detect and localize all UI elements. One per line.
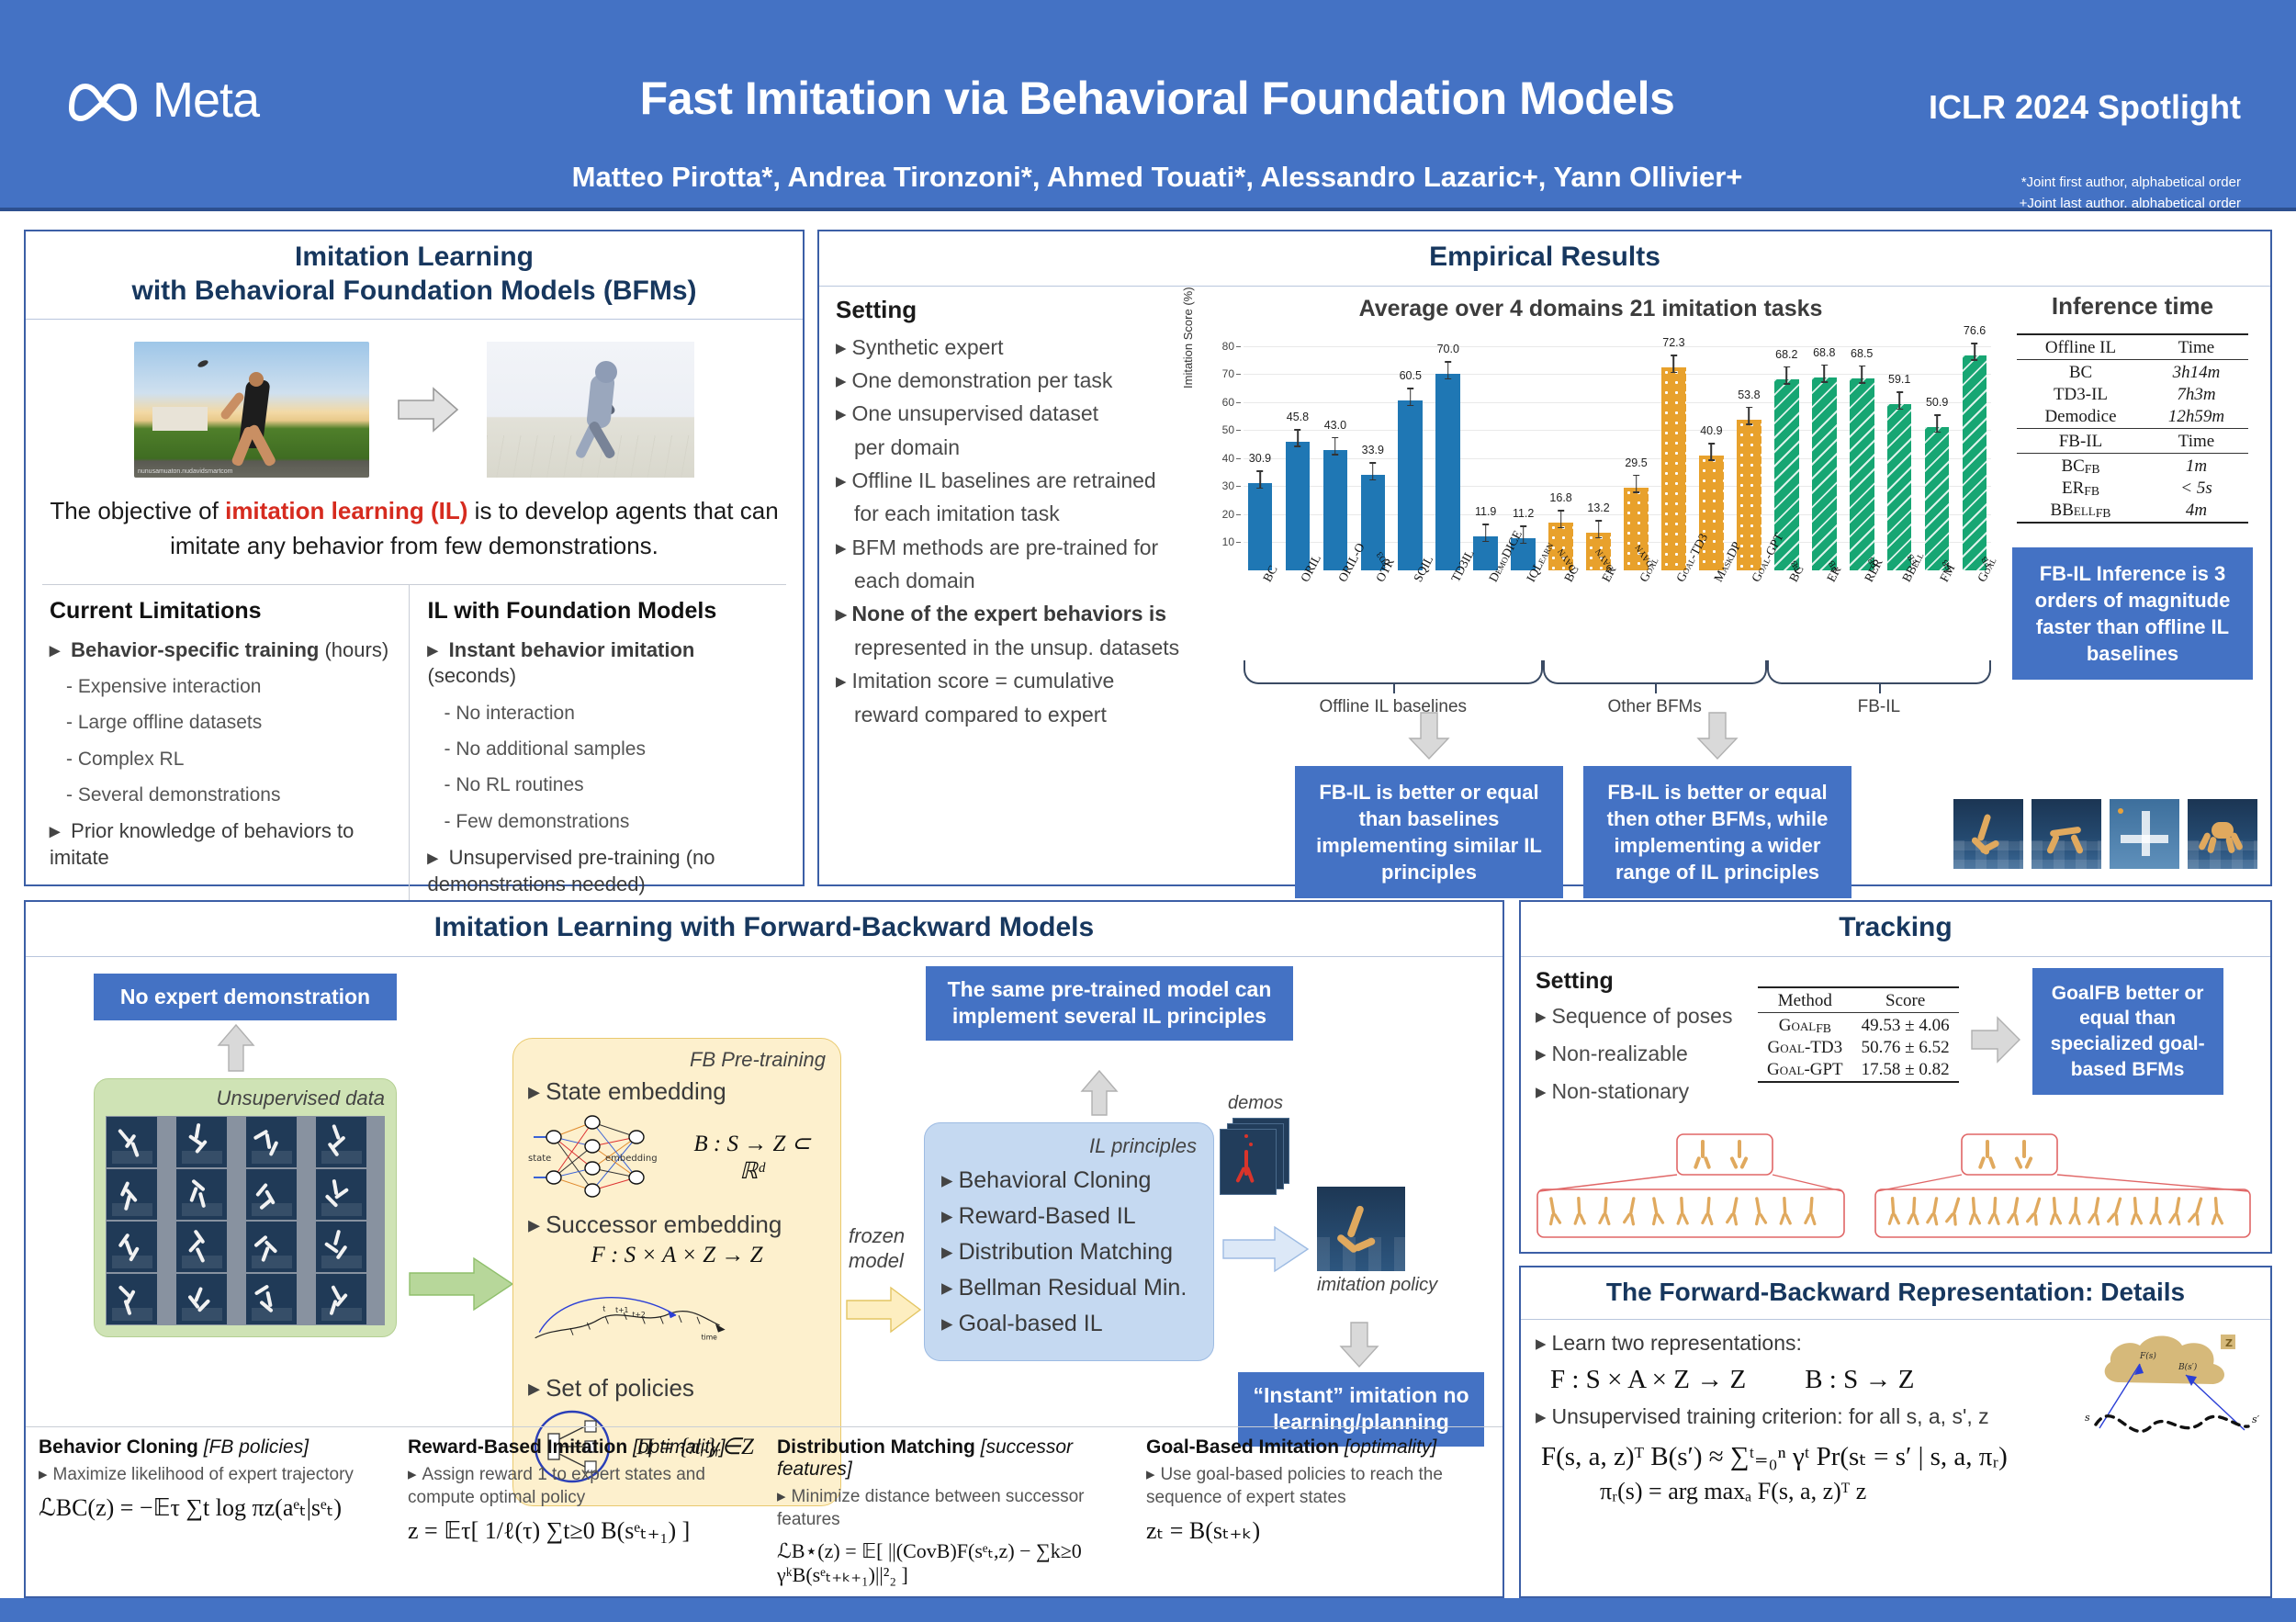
foundation-item-1: - No interaction	[445, 701, 780, 726]
inference-time-block: Inference time Offline IL Time BC 3h14m …	[2004, 292, 2261, 680]
footnote-first-author: *Joint first author, alphabetical order	[2020, 173, 2241, 194]
y-tick-20: 20	[1222, 508, 1234, 521]
unsupervised-frame-0	[107, 1117, 157, 1167]
chart-bar-value: 30.9	[1249, 452, 1271, 465]
column-current-limitations: Current Limitations Behavior-specific tr…	[42, 585, 409, 909]
panel-title-imitation-learning: Imitation Learning with Behavioral Found…	[26, 231, 803, 320]
chart-error-bar	[1560, 510, 1562, 528]
cell-time: 7h3m	[2144, 384, 2248, 406]
callout-block-other-bfms: FB-IL is better or equal then other BFMs…	[1583, 711, 1851, 898]
setting-item-9: represented in the unsup. datasets	[854, 634, 1194, 661]
demos-label: demos	[1220, 1093, 1291, 1114]
chart-bar-cell: 16.8	[1545, 341, 1578, 570]
card-tag: [optimality]	[633, 1436, 725, 1458]
svg-text:Z: Z	[2225, 1337, 2233, 1349]
chart-bar-value: 11.9	[1475, 505, 1496, 518]
callout-other-bfms: FB-IL is better or equal then other BFMs…	[1583, 766, 1851, 898]
chart-bar-value: 68.5	[1851, 347, 1873, 360]
chart-bars: 30.945.843.033.960.570.011.911.216.813.2…	[1244, 341, 1991, 570]
meta-wordmark: Meta	[152, 72, 259, 129]
table-row: BBellFB 4m	[2017, 500, 2248, 523]
unsupervised-frame-11	[316, 1222, 366, 1272]
yellow-arrow-icon	[845, 1284, 922, 1340]
pretrain-bullet-successor-embedding: Successor embedding	[528, 1211, 826, 1239]
tracking-setting-list: Setting Sequence of poses Non-realizable…	[1536, 968, 1747, 1117]
environment-thumbnails	[1953, 799, 2257, 869]
cell-method: BC	[2017, 362, 2144, 384]
unsupervised-frame-15	[316, 1274, 366, 1324]
table-header-fbil: FB-IL Time	[2017, 431, 2248, 454]
cell-method-sub: FB	[2084, 484, 2099, 498]
y-tick-60: 60	[1222, 396, 1234, 409]
il-principles-label: IL principles	[941, 1134, 1197, 1158]
chart-error-bar	[1598, 520, 1600, 538]
panel-fb-models: Imitation Learning with Forward-Backward…	[24, 900, 1504, 1598]
chart-error-bar	[1749, 407, 1750, 425]
table-row: BCFB 1m	[2017, 456, 2248, 478]
chart-bar-value: 40.9	[1700, 424, 1722, 437]
chart-x-label-cell: FMFB	[1920, 572, 1953, 657]
pretrain-bullet-state-embedding: State embedding	[528, 1077, 826, 1106]
cell-score: 17.58 ± 0.82	[1852, 1059, 1959, 1082]
setting-item-10: Imitation score = cumulative	[836, 667, 1194, 694]
il-principle-bellman-residual-min: Bellman Residual Min.	[941, 1274, 1197, 1301]
chart-bar-cell: 68.5	[1845, 341, 1878, 570]
demos-block: demos	[1220, 1093, 1291, 1193]
il-principle-goal-based-il: Goal-based IL	[941, 1310, 1197, 1337]
card-title-text: Reward-Based Imitation	[408, 1436, 627, 1458]
table-row: Goal-TD3 50.76 ± 6.52	[1758, 1037, 1959, 1059]
chart-bar-cell: 59.1	[1883, 341, 1916, 570]
card-title-goal-based: Goal-Based Imitation [optimality]	[1146, 1436, 1490, 1459]
il-title-line1: Imitation Learning	[31, 241, 797, 275]
unsupervised-frame-13	[176, 1274, 227, 1324]
setting-item-3: per domain	[854, 434, 1194, 461]
tracking-top-row: Setting Sequence of poses Non-realizable…	[1536, 968, 2256, 1117]
cell-method-sub: FB	[1816, 1021, 1831, 1035]
tracking-setting-item-1: Non-realizable	[1536, 1042, 1747, 1066]
chart-bar-BC: 30.9	[1248, 483, 1273, 569]
unsupervised-frame-9	[176, 1222, 227, 1272]
chart-x-label-cell: OTRTD3	[1356, 572, 1390, 657]
tag-same-pretrained-model: The same pre-trained model can implement…	[926, 966, 1293, 1042]
foundation-item-0: Instant behavior imitation (seconds)	[428, 637, 780, 690]
chart-bar-cell: 53.8	[1732, 341, 1765, 570]
svg-text:state: state	[528, 1154, 551, 1164]
il-principle-distribution-matching: Distribution Matching	[941, 1238, 1197, 1266]
up-arrow-icon-principles	[1080, 1069, 1119, 1121]
cell-method-text: BC	[2061, 456, 2084, 476]
panel-imitation-learning: Imitation Learning with Behavioral Found…	[24, 230, 805, 886]
successor-curve-diagram: t t+1 t+2 time	[528, 1268, 826, 1369]
card-desc-reward-based: Assign reward 1 to expert states and com…	[408, 1464, 751, 1509]
chart-title: Average over 4 domains 21 imitation task…	[1187, 296, 1995, 322]
chart-x-label-cell: ORIL	[1281, 572, 1314, 657]
table-header-tracking: Method Score	[1758, 990, 1959, 1013]
card-title-behavior-cloning: Behavior Cloning [FB policies]	[39, 1436, 382, 1459]
chart-bar-value: 68.2	[1775, 348, 1797, 361]
chart-bar-cell: 60.5	[1394, 341, 1427, 570]
cell-method: BCFB	[2017, 456, 2144, 478]
card-equation-goal-based: zₜ = B(sₜ₊ₖ)	[1146, 1517, 1490, 1545]
chart-bar-cell: 68.8	[1807, 341, 1840, 570]
unsupervised-frame-1	[176, 1117, 227, 1167]
foundation-item-2: - No additional samples	[445, 737, 780, 761]
chart-x-axis-labels: BCORILORIL-OOTRTD3SQILTD3ILDemoDICEIQLea…	[1244, 572, 1991, 657]
unsupervised-frame-3	[316, 1117, 366, 1167]
unsupervised-data-box: Unsupervised data	[94, 1078, 397, 1337]
fb-body: No expert demonstration Unsupervised dat…	[26, 957, 1503, 1591]
limitation-item-3: - Complex RL	[66, 747, 401, 772]
imitation-policy-thumbnail	[1317, 1187, 1405, 1271]
down-arrow-icon-left	[1408, 711, 1450, 760]
svg-text:t+2: t+2	[632, 1310, 645, 1318]
fb-method-cards: Behavior Cloning [FB policies] Maximize …	[26, 1426, 1503, 1590]
cell-method: ERFB	[2017, 478, 2144, 500]
chart-x-label-cell: GoalDAYN	[1620, 572, 1653, 657]
chart-error-bar	[1297, 429, 1299, 447]
th-time-2: Time	[2144, 431, 2248, 454]
chart-y-axis-ticks: 1020304050607080	[1207, 341, 1242, 570]
chart-x-label-cell: BBellFB	[1883, 572, 1916, 657]
il-principle-reward-based-il: Reward-Based IL	[941, 1202, 1197, 1230]
page-title: Fast Imitation via Behavioral Foundation…	[514, 72, 1800, 125]
heading-il-foundation-models: IL with Foundation Models	[428, 598, 780, 625]
y-tick-80: 80	[1222, 340, 1234, 353]
y-tick-40: 40	[1222, 452, 1234, 465]
card-equation-reward-based: z = 𝔼τ[ 1/ℓ(τ) ∑t≥0 B(sᵉₜ₊₁) ]	[408, 1517, 751, 1545]
chart-x-label-cell: TD3IL	[1432, 572, 1465, 657]
cell-method: BBellFB	[2017, 500, 2144, 523]
callout-inference-speed: FB-IL Inference is 3 orders of magnitude…	[2012, 547, 2253, 680]
chart-y-axis-label: Imitation Score (%)	[1181, 287, 1195, 389]
heading-inference-time: Inference time	[2004, 292, 2261, 321]
chart-x-label-cell: ERFB	[1807, 572, 1840, 657]
panel-fb-representation: The Forward-Backward Representation: Det…	[1519, 1266, 2272, 1598]
panel-tracking: Tracking Setting Sequence of poses Non-r…	[1519, 900, 2272, 1254]
card-desc-goal-based: Use goal-based policies to reach the seq…	[1146, 1464, 1490, 1509]
chart-error-bar	[1485, 524, 1487, 542]
rep-equation-policy: πᵣ(s) = arg maxₐ F(s, a, z)ᵀ z	[1600, 1478, 2256, 1505]
chart-x-label-cell: RERFB	[1845, 572, 1878, 657]
il-body: nunusamuaton.nudavidsmartcom The objecti…	[26, 320, 803, 908]
imitation-policy-label: imitation policy	[1317, 1275, 1437, 1296]
meta-logo: Meta	[66, 72, 259, 129]
svg-text:t: t	[602, 1304, 605, 1312]
y-tick-10: 10	[1222, 535, 1234, 548]
unsupervised-frame-8	[107, 1222, 157, 1272]
setting-item-0: Synthetic expert	[836, 333, 1194, 361]
chart-error-bar	[1711, 443, 1713, 461]
chart-bar-cell: 50.9	[1920, 341, 1953, 570]
card-desc-behavior-cloning: Maximize likelihood of expert trajectory	[39, 1464, 382, 1487]
right-arrow-icon-tracking	[1970, 1016, 2021, 1068]
heading-tracking-setting: Setting	[1536, 968, 1747, 995]
venue-badge: ICLR 2024 Spotlight	[1929, 88, 2241, 127]
chart-bar-value: 76.6	[1964, 324, 1986, 337]
cell-method: Goal-GPT	[1758, 1059, 1852, 1082]
chart-error-bar	[1936, 414, 1938, 433]
il-principles-box: IL principles Behavioral Cloning Reward-…	[924, 1122, 1214, 1361]
chart-x-label-cell: SQIL	[1394, 572, 1427, 657]
cell-method: TD3-IL	[2017, 384, 2144, 406]
svg-text:embedding: embedding	[605, 1154, 658, 1164]
card-title-text: Behavior Cloning	[39, 1436, 198, 1458]
chart-bar-value: 11.2	[1513, 507, 1534, 520]
chart-bar-value: 29.5	[1625, 456, 1647, 469]
unsupervised-data-label: Unsupervised data	[106, 1087, 385, 1110]
chart-bar-cell: 29.5	[1620, 341, 1653, 570]
chart-error-bar	[1673, 355, 1675, 373]
card-distribution-matching: Distribution Matching [successor feature…	[764, 1427, 1133, 1590]
chart-error-bar	[1786, 366, 1788, 385]
card-tag: [FB policies]	[204, 1436, 309, 1458]
chart-x-label-cell: ERDAYN	[1582, 572, 1615, 657]
setting-item-7: each domain	[854, 567, 1194, 594]
tracking-pose-sequences	[1530, 1132, 2265, 1243]
foundation-item-0-light: (seconds)	[428, 664, 517, 687]
chart-bar-value: 70.0	[1437, 343, 1459, 355]
chart-bar-FM_FB: 50.9	[1925, 427, 1950, 569]
il-two-column-comparison: Current Limitations Behavior-specific tr…	[42, 584, 786, 909]
fb-representation-body: Learn two representations: F : S × A × Z…	[1521, 1320, 2270, 1592]
cell-score: 49.53 ± 4.06	[1852, 1015, 1959, 1037]
empirical-setting-list: Setting Synthetic expertOne demonstratio…	[836, 296, 1194, 734]
unsupervised-frame-4	[107, 1169, 157, 1220]
chart-x-label-cell: BCFB	[1770, 572, 1803, 657]
pretrain-bullet-set-of-policies: Set of policies	[528, 1374, 826, 1402]
il-title-line2: with Behavioral Foundation Models (BFMs)	[31, 275, 797, 309]
card-title-distribution-matching: Distribution Matching [successor feature…	[777, 1436, 1120, 1481]
chart-bar-value: 13.2	[1587, 501, 1609, 514]
successor-embedding-formula: F : S × A × Z → Z	[528, 1243, 826, 1268]
unsupervised-frame-14	[246, 1274, 297, 1324]
foundation-item-3: - No RL routines	[445, 772, 780, 797]
bracket-0	[1244, 660, 1543, 684]
frozen-model-label: frozenmodel	[849, 1223, 905, 1274]
chart-error-bar	[1823, 365, 1825, 383]
unsupervised-frame-6	[246, 1169, 297, 1220]
foundation-item-5-light: Unsupervised pre-training (no demonstrat…	[428, 846, 715, 895]
unsupervised-frame-5	[176, 1169, 227, 1220]
chart-bar-RER_FB: 68.5	[1850, 378, 1874, 570]
chart-bar-ER_FB: 68.8	[1812, 377, 1837, 570]
il-illustration-row: nunusamuaton.nudavidsmartcom	[42, 342, 786, 478]
il-caption-highlight: imitation learning (IL)	[225, 497, 467, 524]
chart-x-label-cell: BC	[1244, 572, 1277, 657]
chart-bar-value: 16.8	[1549, 491, 1571, 504]
card-behavior-cloning: Behavior Cloning [FB policies] Maximize …	[26, 1427, 395, 1590]
th-time-1: Time	[2144, 337, 2248, 360]
simulated-humanoid-photo	[487, 342, 694, 478]
latent-space-cloud-diagram: Z F(s) B(s′) s s′	[2083, 1325, 2257, 1436]
tracking-setting-item-0: Sequence of poses	[1536, 1004, 1747, 1029]
table-row: BC 3h14m	[2017, 362, 2248, 384]
chart-x-label-cell: IQLearn	[1507, 572, 1540, 657]
cell-method: Goal-TD3	[1758, 1037, 1852, 1059]
setting-item-1: One demonstration per task	[836, 366, 1194, 394]
footer-bar	[0, 1598, 2296, 1622]
chart-bar-cell: 33.9	[1356, 341, 1390, 570]
chart-plot-area: Imitation Score (%) 1020304050607080 30.…	[1187, 341, 1995, 581]
chart-bar-cell: 11.9	[1469, 341, 1503, 570]
chart-bar-cell: 43.0	[1319, 341, 1352, 570]
cell-method: Demodice	[2017, 406, 2144, 429]
chart-x-label-cell: Goal-TD3	[1657, 572, 1690, 657]
card-goal-based-imitation: Goal-Based Imitation [optimality] Use go…	[1133, 1427, 1503, 1590]
th-score: Score	[1852, 990, 1959, 1013]
runner-photo: nunusamuaton.nudavidsmartcom	[134, 342, 369, 478]
cell-method-text: Goal	[1779, 1016, 1816, 1035]
chart-error-bar	[1636, 475, 1638, 493]
limitation-item-5: Prior knowledge of behaviors to imitate	[50, 818, 401, 871]
limitation-item-0-light: (hours)	[324, 638, 388, 661]
setting-item-4: Offline IL baselines are retrained	[836, 467, 1194, 494]
header-divider	[0, 208, 2296, 211]
chart-x-label-cell: ORIL-O	[1319, 572, 1352, 657]
bracket-2	[1767, 660, 1991, 684]
table-header-offline: Offline IL Time	[2017, 337, 2248, 360]
cell-time: 3h14m	[2144, 362, 2248, 384]
il-caption-pre: The objective of	[50, 497, 225, 524]
y-tick-30: 30	[1222, 479, 1234, 492]
unsupervised-frame-2	[246, 1117, 297, 1167]
th-fb-il: FB-IL	[2017, 431, 2144, 454]
limitation-item-0: Behavior-specific training (hours)	[50, 637, 401, 664]
card-tag: [optimality]	[1345, 1436, 1436, 1458]
cell-time: 12h59m	[2144, 406, 2248, 429]
up-arrow-icon-unsup	[217, 1023, 255, 1077]
chart-bar-BBell_FB: 59.1	[1887, 404, 1912, 569]
limitation-item-0-bold: Behavior-specific training	[71, 638, 319, 661]
chart-error-bar	[1974, 343, 1975, 361]
pose-sequence-diagram	[1530, 1132, 2256, 1241]
state-embedding-row: state embedding B : S → Z ⊂ ℝᵈ	[528, 1109, 826, 1205]
chart-bar-value: 50.9	[1926, 396, 1948, 409]
demos-thumbnail-stack	[1220, 1114, 1291, 1193]
limitation-item-4: - Several demonstrations	[66, 783, 401, 807]
unsupervised-frame-10	[246, 1222, 297, 1272]
setting-item-11: reward compared to expert	[854, 701, 1194, 728]
table-row: Goal-GPT 17.58 ± 0.82	[1758, 1059, 1959, 1082]
tracking-setting-item-2: Non-stationary	[1536, 1079, 1747, 1104]
unsupervised-frame-12	[107, 1274, 157, 1324]
panel-title-fb-models: Imitation Learning with Forward-Backward…	[26, 902, 1503, 957]
chart-error-bar	[1334, 437, 1336, 456]
y-tick-70: 70	[1222, 367, 1234, 380]
panel-empirical-results: Empirical Results Setting Synthetic expe…	[817, 230, 2272, 886]
card-equation-distribution-matching: ℒB⋆(z) = 𝔼[ ||(CovB)F(sᵉₜ,z) − ∑k≥0 γᵏB(…	[777, 1539, 1120, 1587]
bracket-1	[1543, 660, 1767, 684]
fb-pretraining-label: FB Pre-training	[528, 1048, 826, 1072]
down-arrow-icon-right	[1696, 711, 1739, 760]
limitation-item-2: - Large offline datasets	[66, 710, 401, 735]
limitation-item-1: - Expensive interaction	[66, 674, 401, 699]
cell-score: 50.76 ± 6.52	[1852, 1037, 1959, 1059]
th-method: Method	[1758, 990, 1852, 1013]
setting-item-2: One unsupervised dataset	[836, 400, 1194, 427]
callout-offline-baselines: FB-IL is better or equal than baselines …	[1295, 766, 1563, 898]
svg-text:t+1: t+1	[615, 1306, 628, 1314]
chart-error-bar	[1861, 366, 1863, 384]
card-equation-behavior-cloning: ℒBC(z) = −𝔼τ ∑t log πz(aᵉₜ|sᵉₜ)	[39, 1494, 382, 1522]
imitation-policy-block: imitation policy	[1317, 1187, 1437, 1296]
heading-current-limitations: Current Limitations	[50, 598, 401, 625]
cell-method-sub: FB	[2085, 462, 2100, 476]
panel-title-empirical-results: Empirical Results	[819, 231, 2270, 287]
card-reward-based-imitation: Reward-Based Imitation [optimality] Assi…	[395, 1427, 764, 1590]
tag-no-expert-demonstration: No expert demonstration	[94, 974, 397, 1021]
il-caption: The objective of imitation learning (IL)…	[42, 494, 786, 563]
chart-bar-cell: 30.9	[1244, 341, 1277, 570]
blue-arrow-icon	[1221, 1223, 1310, 1279]
th-offline-il: Offline IL	[2017, 337, 2144, 360]
chart-x-label-cell: DemoDICE	[1469, 572, 1503, 657]
cell-time: 1m	[2144, 456, 2248, 478]
chart-error-bar	[1447, 361, 1449, 379]
chart-error-bar	[1898, 391, 1900, 410]
table-row: Demodice 12h59m	[2017, 406, 2248, 429]
chart-bar-cell: 76.6	[1958, 341, 1991, 570]
chart-group-brackets: Offline IL baselinesOther BFMsFB-IL	[1244, 660, 1991, 714]
column-il-foundation-models: IL with Foundation Models Instant behavi…	[409, 585, 787, 909]
foundation-item-4: - Few demonstrations	[445, 809, 780, 834]
card-title-text: Distribution Matching	[777, 1436, 975, 1458]
heading-setting: Setting	[836, 296, 1194, 324]
svg-text:B(s′): B(s′)	[2178, 1362, 2198, 1372]
card-title-reward-based: Reward-Based Imitation [optimality]	[408, 1436, 751, 1459]
neural-network-icon: state embedding	[528, 1109, 675, 1205]
chart-bar-cell: 45.8	[1281, 341, 1314, 570]
svg-text:s′: s′	[2252, 1414, 2260, 1425]
transform-arrow-icon	[397, 386, 459, 434]
chart-bar-cell: 13.2	[1582, 341, 1615, 570]
setting-item-5: for each imitation task	[854, 500, 1194, 527]
chart-bar-cell: 72.3	[1657, 341, 1690, 570]
cell-time: < 5s	[2144, 478, 2248, 500]
chart-x-label-cell: BCDAYN	[1545, 572, 1578, 657]
cell-method: GoalFB	[1758, 1015, 1852, 1037]
panel-title-fb-representation: The Forward-Backward Representation: Det…	[1521, 1267, 2270, 1320]
cell-time: 4m	[2144, 500, 2248, 523]
rep-equation-B: B : S → Z	[1805, 1365, 1914, 1395]
foundation-item-0-bold: Instant behavior imitation	[449, 638, 695, 661]
chart-bar-Goal_FB: 76.6	[1963, 355, 1987, 570]
chart-error-bar	[1410, 388, 1412, 406]
chart-x-label-cell: Goal-GPT	[1732, 572, 1765, 657]
svg-text:F(s): F(s)	[2139, 1351, 2156, 1361]
card-desc-distribution-matching: Minimize distance between successor feat…	[777, 1486, 1120, 1531]
svg-text:time: time	[702, 1333, 718, 1341]
chart-bar-value: 72.3	[1662, 336, 1684, 349]
chart-bar-value: 43.0	[1324, 419, 1346, 432]
green-arrow-icon	[408, 1255, 514, 1318]
chart-bar-cell: 70.0	[1432, 341, 1465, 570]
table-row: GoalFB 49.53 ± 4.06	[1758, 1015, 1959, 1037]
cell-method-text: BBell	[2051, 501, 2096, 520]
chart-error-bar	[1259, 470, 1261, 489]
cell-method-sub: FB	[2096, 506, 2111, 520]
chart-bar-value: 59.1	[1888, 373, 1910, 386]
chart-x-label-cell: GoalFB	[1958, 572, 1991, 657]
foundation-item-5: Unsupervised pre-training (no demonstrat…	[428, 845, 780, 897]
author-list: Matteo Pirotta*, Andrea Tironzoni*, Ahme…	[395, 161, 1919, 194]
chart-bar-ORIL-O: 43.0	[1323, 450, 1348, 570]
unsupervised-data-grid	[106, 1116, 385, 1325]
cheetah-env-thumbnail	[2032, 799, 2101, 869]
panel-title-tracking: Tracking	[1521, 902, 2270, 957]
rep-equation-F: F : S × A × Z → Z	[1550, 1365, 1746, 1395]
